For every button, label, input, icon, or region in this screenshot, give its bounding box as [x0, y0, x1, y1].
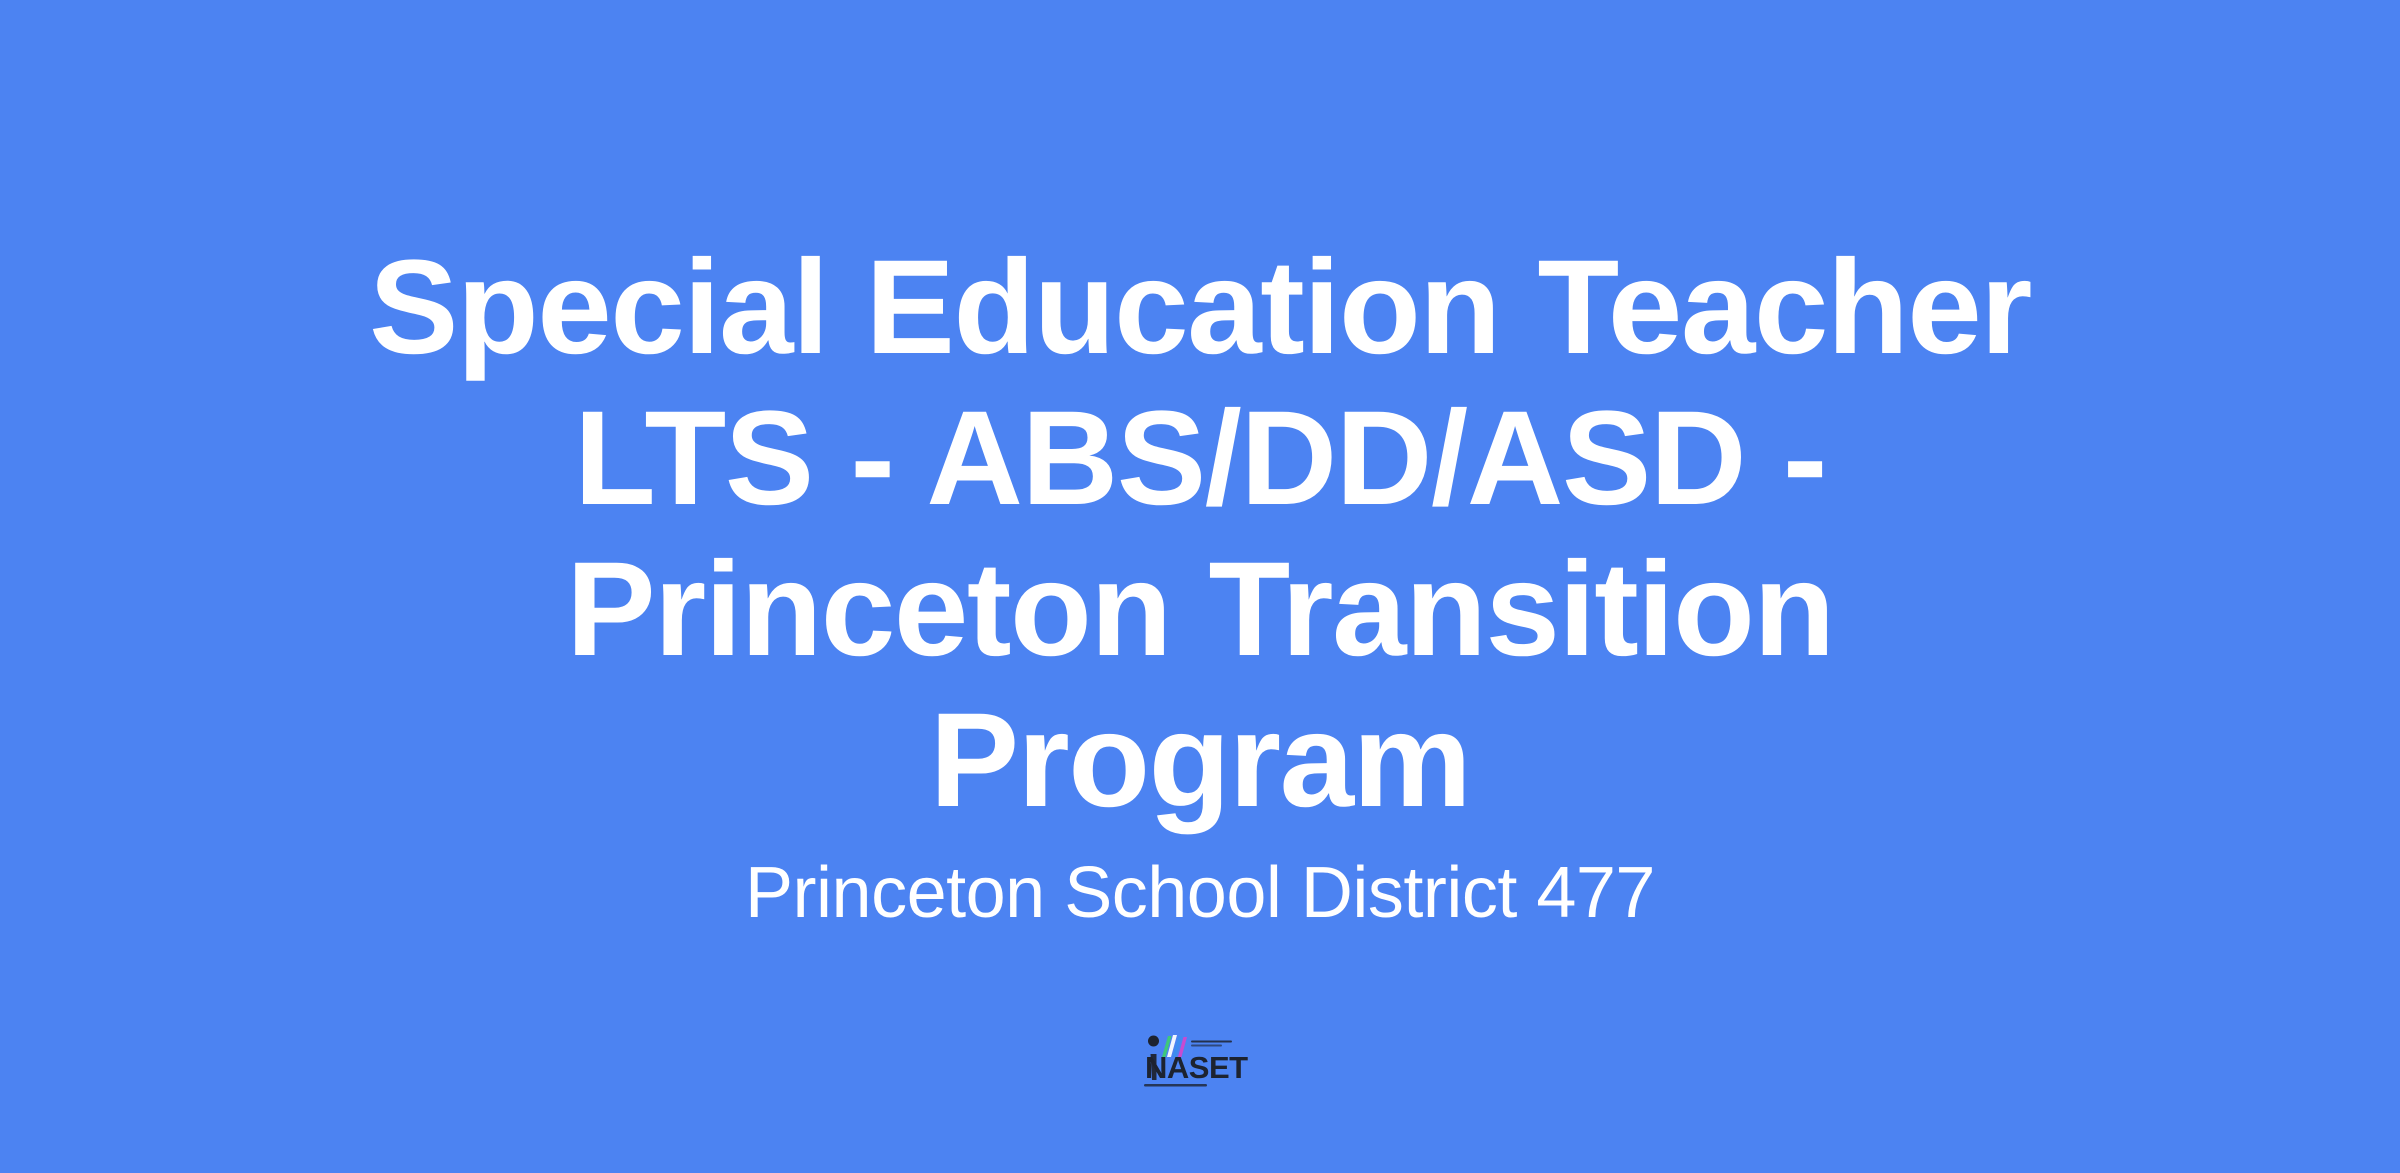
heading-block: Special Education Teacher LTS - ABS/DD/A…: [0, 232, 2400, 936]
logo-container: NASET: [1135, 1030, 1265, 1092]
organization-name: Princeton School District 477: [120, 850, 2280, 936]
page-title: Special Education Teacher LTS - ABS/DD/A…: [350, 232, 2050, 836]
logo-tagline-top: [1191, 1041, 1232, 1047]
logo-wordmark: NASET: [1145, 1050, 1248, 1085]
job-posting-banner: Special Education Teacher LTS - ABS/DD/A…: [0, 0, 2400, 1173]
logo-person-head: [1148, 1036, 1159, 1047]
naset-logo-icon: NASET: [1141, 1032, 1259, 1090]
logo-tagline-bottom: [1144, 1084, 1207, 1087]
